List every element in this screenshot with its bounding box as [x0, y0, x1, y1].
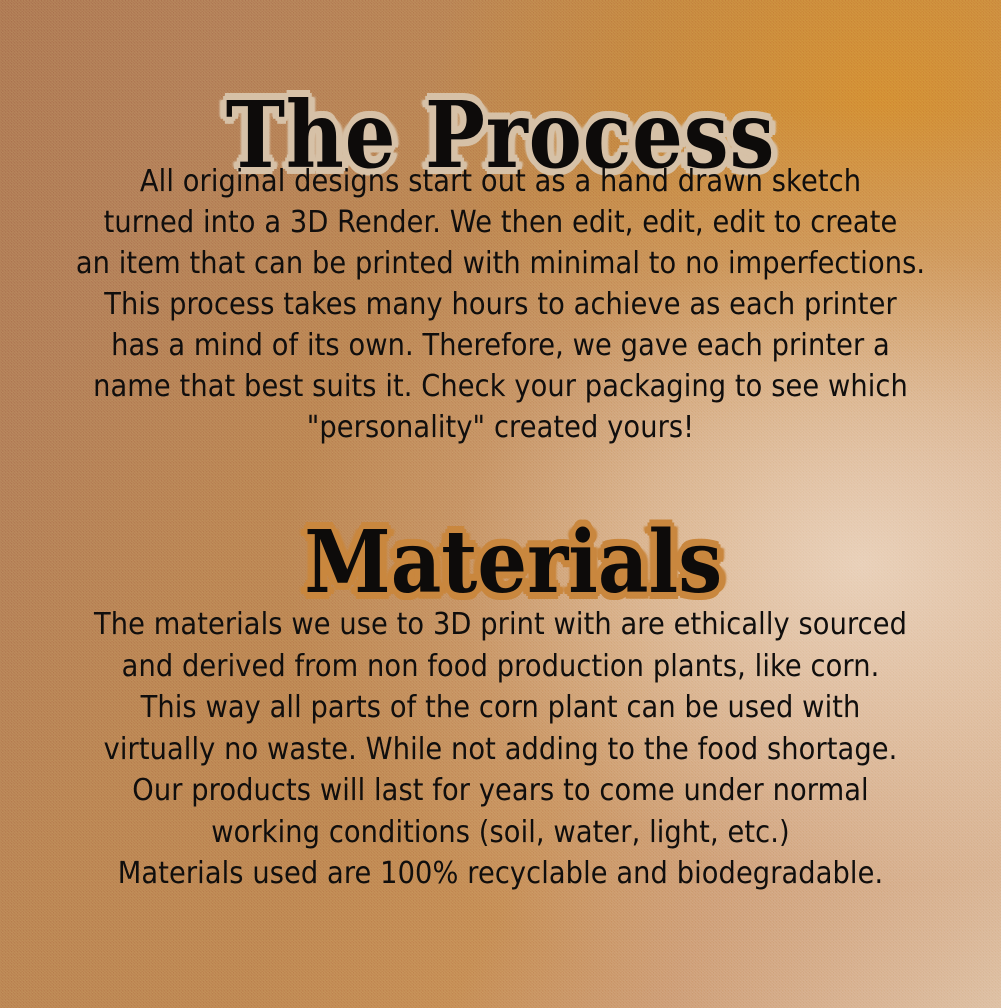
materials-line-2: and derived from non food production pla… [53, 646, 948, 688]
process-line-6: name that best suits it. Check your pack… [53, 366, 948, 407]
process-line-2: turned into a 3D Render. We then edit, e… [53, 202, 948, 243]
poster-canvas: The Process All original designs start o… [0, 0, 1001, 1008]
materials-body-text: The materials we use to 3D print with ar… [0, 604, 1001, 895]
materials-line-7: Materials used are 100% recyclable and b… [53, 853, 948, 895]
process-line-4: This process takes many hours to achieve… [53, 284, 948, 325]
materials-line-1: The materials we use to 3D print with ar… [53, 604, 948, 646]
materials-line-3: This way all parts of the corn plant can… [53, 687, 948, 729]
materials-line-4: virtually no waste. While not adding to … [53, 729, 948, 771]
process-line-1: All original designs start out as a hand… [53, 161, 948, 202]
poster-content: The Process All original designs start o… [0, 0, 1001, 1008]
process-line-7: "personality" created yours! [53, 407, 948, 448]
process-line-5: has a mind of its own. Therefore, we gav… [53, 325, 948, 366]
materials-line-5: Our products will last for years to come… [53, 770, 948, 812]
process-body-text: All original designs start out as a hand… [0, 161, 1001, 448]
materials-line-6: working conditions (soil, water, light, … [53, 812, 948, 854]
materials-heading: Materials [59, 520, 968, 606]
process-line-3: an item that can be printed with minimal… [53, 243, 948, 284]
